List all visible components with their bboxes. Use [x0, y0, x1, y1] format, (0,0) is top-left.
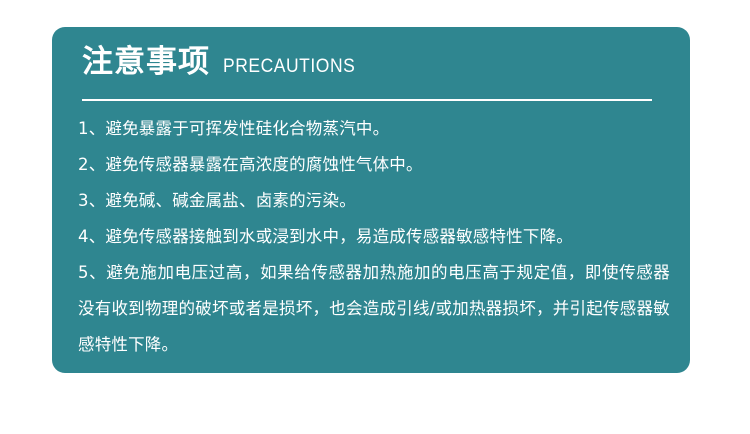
page-title: 注意事项: [82, 47, 210, 78]
list-item: 5、避免施加电压过高，如果给传感器加热施加的电压高于规定值，即使传感器没有收到物…: [78, 255, 670, 363]
precautions-card: 注意事项 PRECAUTIONS 1、避免暴露于可挥发性硅化合物蒸汽中。 2、避…: [52, 27, 690, 373]
list-item: 1、避免暴露于可挥发性硅化合物蒸汽中。: [78, 111, 670, 147]
list-item: 3、避免碱、碱金属盐、卤素的污染。: [78, 183, 670, 219]
list-item: 2、避免传感器暴露在高浓度的腐蚀性气体中。: [78, 147, 670, 183]
page-root: 注意事项 PRECAUTIONS 1、避免暴露于可挥发性硅化合物蒸汽中。 2、避…: [0, 0, 750, 434]
card-header: 注意事项 PRECAUTIONS: [82, 47, 367, 78]
header-divider: [82, 99, 652, 101]
precautions-list: 1、避免暴露于可挥发性硅化合物蒸汽中。 2、避免传感器暴露在高浓度的腐蚀性气体中…: [78, 111, 670, 363]
page-subtitle: PRECAUTIONS: [223, 57, 355, 76]
list-item: 4、避免传感器接触到水或浸到水中，易造成传感器敏感特性下降。: [78, 219, 670, 255]
